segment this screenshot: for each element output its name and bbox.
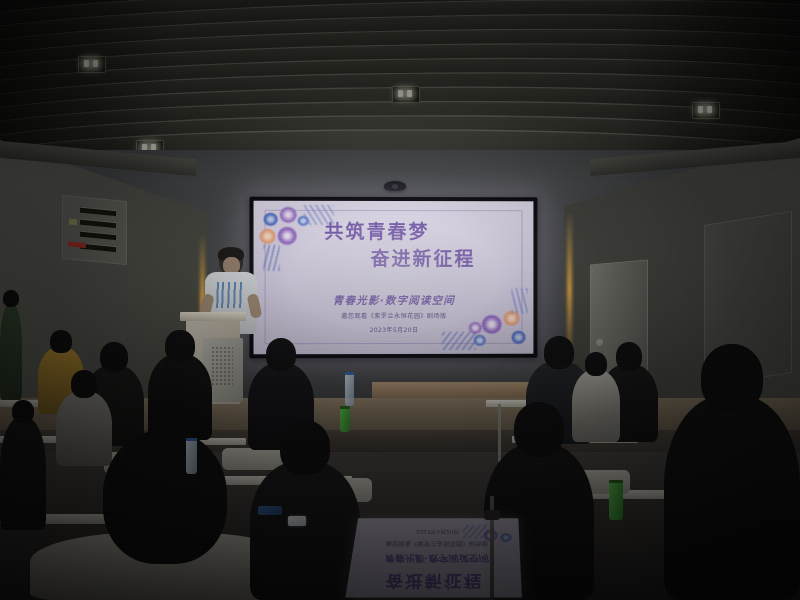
attendee-head xyxy=(266,338,296,371)
panel-slot xyxy=(80,219,116,229)
sprite-bottle xyxy=(609,480,623,520)
attendee-head xyxy=(514,402,565,457)
bottle-cap xyxy=(345,372,354,375)
attendee-torso xyxy=(250,461,360,600)
reflection-line-3: 青春光影·数字阅读空间 xyxy=(350,552,520,566)
panel-warning-label xyxy=(68,241,86,248)
attendee-head xyxy=(3,290,19,307)
slide-canvas: 共筑青春梦 奋进新征程 青春光影·数字阅读空间 邀您观看《紫罗兰永恒花园》剧场版… xyxy=(254,201,534,355)
reflection-line-4: 奋进新征程 xyxy=(346,571,522,595)
blue-cornflower-icon xyxy=(501,533,512,542)
reflection-flower-cluster xyxy=(462,523,514,552)
attendee-torso xyxy=(664,395,800,600)
lecture-hall-photo: 共筑青春梦 奋进新征程 青春光影·数字阅读空间 邀您观看《紫罗兰永恒花园》剧场版… xyxy=(0,0,800,600)
attendee-torso xyxy=(0,417,46,530)
attendee-head xyxy=(701,344,764,412)
slide-title-line-2: 奋进新征程 xyxy=(312,248,534,270)
snack-packet xyxy=(258,506,282,515)
smartphone[interactable] xyxy=(288,516,306,526)
electrical-panel xyxy=(62,195,127,265)
attendee-far-left xyxy=(0,400,46,530)
presenter-shirt-graphic xyxy=(215,282,247,308)
slide-detail-line: 邀您观看《紫罗兰永恒花园》剧场版 xyxy=(254,311,534,320)
attendee-head xyxy=(585,352,607,376)
speaker-grille xyxy=(211,346,233,386)
front-wood-desk xyxy=(372,382,532,398)
attendee-head xyxy=(100,342,128,372)
bottle-cap xyxy=(186,438,197,441)
attendee-head xyxy=(71,370,97,398)
slide-subtitle: 青春光影·数字阅读空间 xyxy=(254,293,534,308)
slide-title: 共筑青春梦 奋进新征程 xyxy=(254,221,534,270)
ceiling-motion-sensor xyxy=(384,181,406,191)
panel-slot xyxy=(80,231,116,241)
podium-top xyxy=(180,312,246,321)
attendee-silhouette-7 xyxy=(664,344,800,600)
attendee-head xyxy=(280,420,331,475)
reflection-pole-base xyxy=(484,510,500,520)
attendee-head xyxy=(103,430,227,564)
attendee-silhouette-2 xyxy=(148,330,212,440)
attendee-head xyxy=(50,330,71,353)
ceiling-downlight-off-3 xyxy=(692,102,720,119)
attendee-side-left xyxy=(0,290,22,400)
bottle-cap xyxy=(340,406,350,409)
ceiling-downlight-off-2 xyxy=(392,86,420,103)
presentation-display[interactable]: 共筑青春梦 奋进新征程 青春光影·数字阅读空间 邀您观看《紫罗兰永恒花园》剧场版… xyxy=(249,197,537,359)
ceiling-downlight-off-1 xyxy=(78,56,106,73)
floor-reflection-of-slide: 2023年5月20日 邀您观看《紫罗兰永恒花园》剧场版 青春光影·数字阅读空间 … xyxy=(345,518,522,597)
water-bottle xyxy=(186,438,197,474)
panel-sticker xyxy=(69,218,77,225)
bottle-cap xyxy=(609,480,623,483)
slide-title-line-1: 共筑青春梦 xyxy=(254,221,534,243)
slide-date: 2023年5月20日 xyxy=(254,325,534,334)
attendee-torso xyxy=(148,354,212,440)
sprite-bottle xyxy=(340,406,350,432)
attendee-head xyxy=(165,330,194,362)
attendee-head xyxy=(544,336,574,369)
lavender-sprig-icon xyxy=(442,332,476,350)
attendee-torso xyxy=(0,303,22,400)
water-bottle xyxy=(345,372,354,406)
lavender-sprig-icon xyxy=(462,525,487,539)
attendee-head xyxy=(12,400,33,423)
panel-slot xyxy=(80,207,116,217)
